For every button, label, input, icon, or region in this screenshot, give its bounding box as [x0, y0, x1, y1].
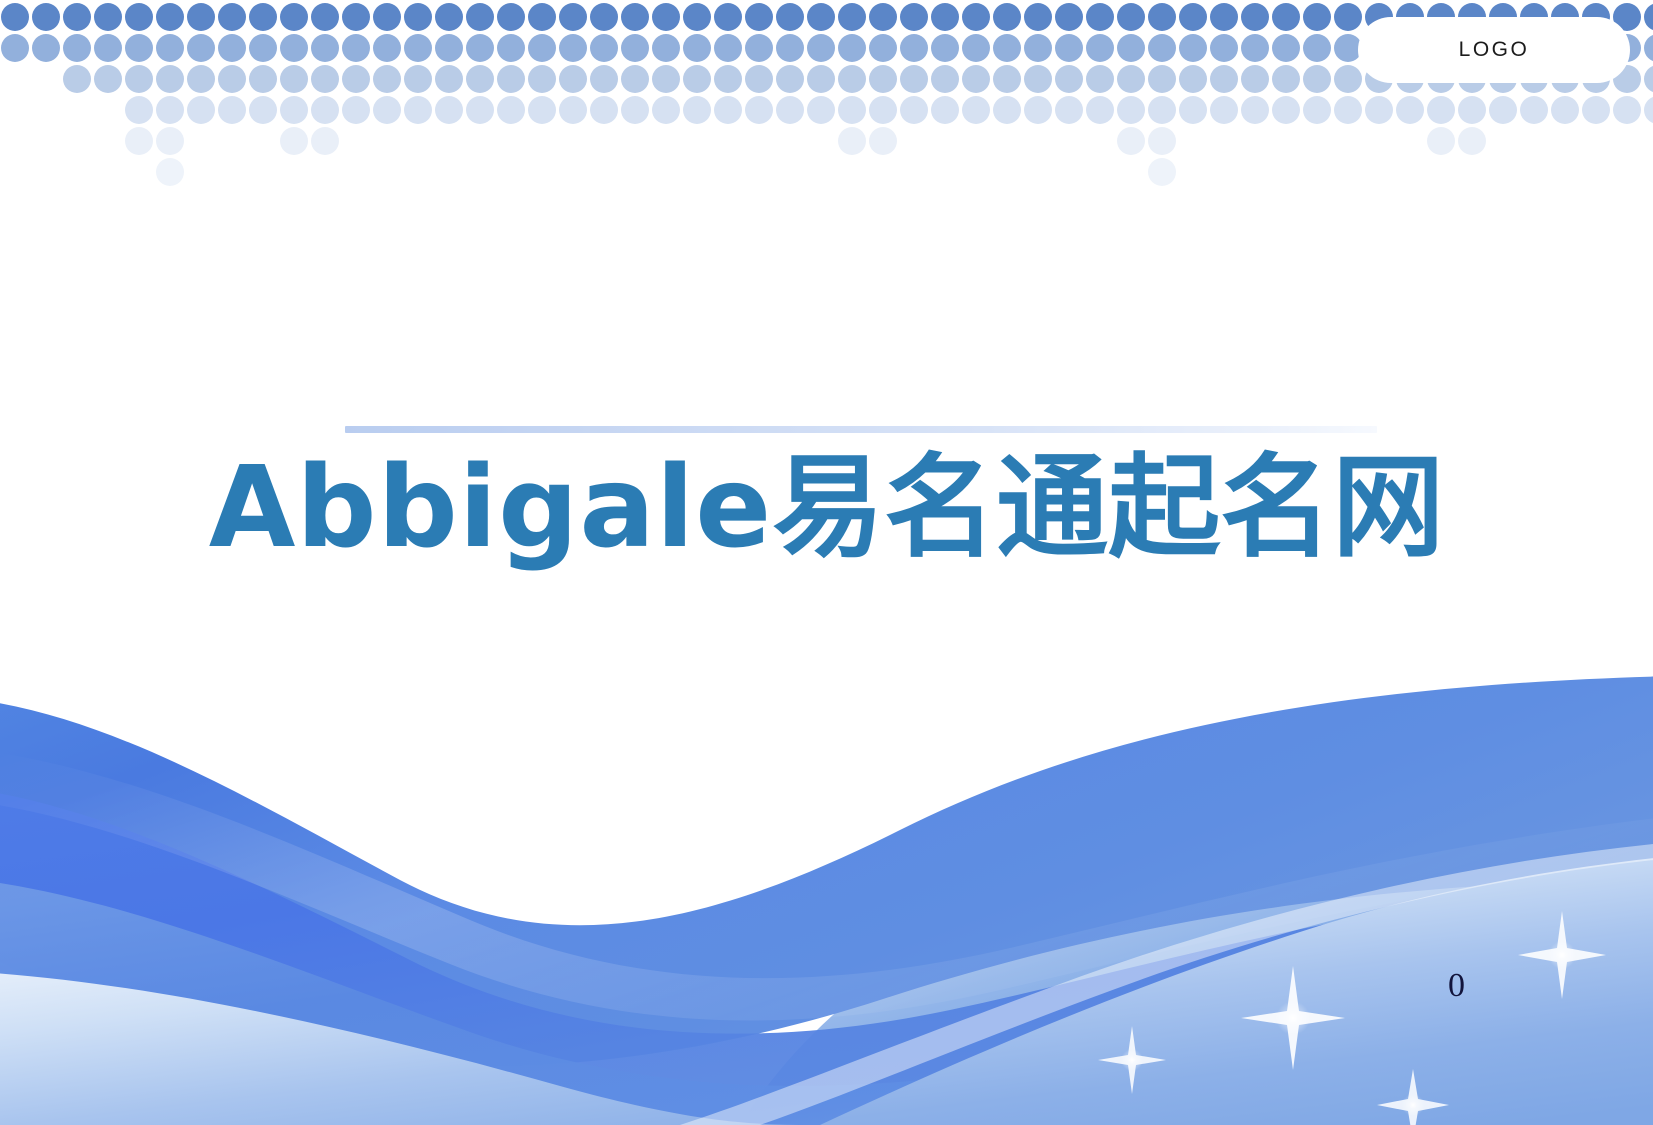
halftone-dot [838, 34, 866, 62]
halftone-dot [931, 65, 959, 93]
halftone-dot [435, 65, 463, 93]
halftone-dot [280, 96, 308, 124]
page-title: Abbigale易名通起名网 [0, 438, 1653, 578]
halftone-dot [528, 65, 556, 93]
halftone-dot [280, 127, 308, 155]
halftone-dot [497, 96, 525, 124]
halftone-dot [1117, 65, 1145, 93]
halftone-dot [404, 96, 432, 124]
halftone-dot [1117, 127, 1145, 155]
halftone-dot [900, 3, 928, 31]
halftone-dot [745, 65, 773, 93]
halftone-dot [280, 65, 308, 93]
halftone-dot [1055, 3, 1083, 31]
page-number: 0 [1448, 967, 1465, 1005]
halftone-dot [1148, 96, 1176, 124]
halftone-dot [1644, 65, 1653, 93]
halftone-dot [869, 127, 897, 155]
halftone-dot [373, 65, 401, 93]
halftone-dot [683, 34, 711, 62]
halftone-dot [404, 3, 432, 31]
halftone-dot [590, 96, 618, 124]
halftone-dot [1334, 65, 1362, 93]
halftone-dot [1179, 34, 1207, 62]
halftone-dot [63, 34, 91, 62]
halftone-dot [435, 96, 463, 124]
halftone-dot [900, 34, 928, 62]
halftone-dot [342, 34, 370, 62]
halftone-dot [1272, 34, 1300, 62]
halftone-dot [807, 96, 835, 124]
halftone-dot [993, 65, 1021, 93]
halftone-dot [962, 96, 990, 124]
halftone-dot [962, 34, 990, 62]
halftone-dot [1117, 3, 1145, 31]
title-latin-part: Abbigale [209, 443, 773, 573]
halftone-dot [187, 3, 215, 31]
halftone-dot [528, 34, 556, 62]
halftone-dot [497, 34, 525, 62]
halftone-dot [776, 3, 804, 31]
halftone-dot [1582, 96, 1610, 124]
halftone-dot [1241, 34, 1269, 62]
halftone-dot [1117, 34, 1145, 62]
halftone-dot [807, 65, 835, 93]
halftone-dot [125, 127, 153, 155]
halftone-dot [404, 65, 432, 93]
halftone-dot [311, 3, 339, 31]
halftone-dot [466, 65, 494, 93]
halftone-dot [1272, 96, 1300, 124]
presentation-slide: LOGO Abbigale易名通起名网 [0, 0, 1653, 1125]
halftone-dot [1644, 34, 1653, 62]
halftone-dot [218, 65, 246, 93]
halftone-dot [1644, 3, 1653, 31]
halftone-dot [32, 34, 60, 62]
halftone-dot [1458, 96, 1486, 124]
halftone-dot [1303, 34, 1331, 62]
halftone-dot [466, 34, 494, 62]
halftone-dot [745, 34, 773, 62]
halftone-dot [807, 3, 835, 31]
halftone-dot [1148, 34, 1176, 62]
halftone-dot [1024, 34, 1052, 62]
halftone-dot [714, 96, 742, 124]
halftone-dot [1086, 65, 1114, 93]
halftone-dot [497, 65, 525, 93]
halftone-dot [683, 96, 711, 124]
halftone-dot [156, 65, 184, 93]
halftone-dot [280, 34, 308, 62]
halftone-dot [1148, 127, 1176, 155]
halftone-dot [435, 34, 463, 62]
halftone-dot [1613, 96, 1641, 124]
halftone-dot [311, 34, 339, 62]
halftone-dot [1396, 96, 1424, 124]
halftone-dot [621, 34, 649, 62]
halftone-dot [1241, 3, 1269, 31]
halftone-dot [1024, 3, 1052, 31]
halftone-dot [993, 34, 1021, 62]
halftone-dot [869, 3, 897, 31]
halftone-dot [838, 127, 866, 155]
halftone-dot [156, 96, 184, 124]
halftone-dot [869, 96, 897, 124]
title-cjk-part: 易名通起名网 [772, 443, 1444, 573]
halftone-dot [652, 65, 680, 93]
halftone-dot [94, 65, 122, 93]
halftone-dot [714, 34, 742, 62]
halftone-dot [280, 3, 308, 31]
halftone-dot [125, 3, 153, 31]
halftone-dot [962, 3, 990, 31]
halftone-dot [1024, 65, 1052, 93]
halftone-dot [218, 3, 246, 31]
title-divider-rule [345, 426, 1377, 433]
halftone-dot [652, 3, 680, 31]
halftone-dot [125, 34, 153, 62]
halftone-dot [1, 3, 29, 31]
halftone-dot [745, 3, 773, 31]
halftone-dot [683, 3, 711, 31]
halftone-dot [590, 65, 618, 93]
halftone-dot [931, 3, 959, 31]
halftone-dot [1551, 96, 1579, 124]
halftone-dot [1303, 96, 1331, 124]
halftone-dot [156, 34, 184, 62]
halftone-dot [559, 34, 587, 62]
halftone-dot [404, 34, 432, 62]
halftone-dot [497, 3, 525, 31]
halftone-dot [1055, 65, 1083, 93]
halftone-dot [559, 3, 587, 31]
halftone-dot [683, 65, 711, 93]
halftone-dot [311, 127, 339, 155]
halftone-dot [1644, 96, 1653, 124]
halftone-dot [993, 3, 1021, 31]
halftone-dot [249, 3, 277, 31]
halftone-dot [1210, 96, 1238, 124]
halftone-dot [962, 65, 990, 93]
halftone-dot [1241, 65, 1269, 93]
halftone-dot [745, 96, 773, 124]
halftone-dot [218, 96, 246, 124]
halftone-dot [63, 65, 91, 93]
halftone-dot [218, 34, 246, 62]
halftone-dot [1179, 3, 1207, 31]
halftone-dot [311, 96, 339, 124]
halftone-dot [590, 34, 618, 62]
halftone-dot [125, 96, 153, 124]
halftone-dot [156, 127, 184, 155]
halftone-dot [249, 34, 277, 62]
halftone-dot [373, 34, 401, 62]
logo-label: LOGO [1459, 38, 1530, 62]
halftone-dot [466, 96, 494, 124]
halftone-dot [838, 65, 866, 93]
halftone-dot [1520, 96, 1548, 124]
halftone-dot [1148, 158, 1176, 186]
halftone-dot [1148, 65, 1176, 93]
halftone-dot [559, 96, 587, 124]
halftone-dot [187, 96, 215, 124]
halftone-dot [528, 96, 556, 124]
halftone-dot [1489, 96, 1517, 124]
halftone-dot [1272, 65, 1300, 93]
halftone-dot [1055, 96, 1083, 124]
halftone-dot [1086, 34, 1114, 62]
halftone-dot [776, 34, 804, 62]
halftone-dot [1303, 3, 1331, 31]
halftone-dot [342, 65, 370, 93]
halftone-dot [94, 3, 122, 31]
halftone-dot [311, 65, 339, 93]
halftone-dot [1272, 3, 1300, 31]
halftone-dot [838, 96, 866, 124]
halftone-dot [776, 65, 804, 93]
halftone-dot [249, 96, 277, 124]
halftone-dot [1117, 96, 1145, 124]
halftone-dot [342, 96, 370, 124]
halftone-dot [1334, 3, 1362, 31]
halftone-dot [1179, 96, 1207, 124]
halftone-dot [373, 3, 401, 31]
halftone-dot [466, 3, 494, 31]
halftone-dot [342, 3, 370, 31]
halftone-dot [1179, 65, 1207, 93]
halftone-dot [900, 96, 928, 124]
halftone-dot [1148, 3, 1176, 31]
halftone-dot [32, 3, 60, 31]
halftone-dot [869, 65, 897, 93]
halftone-dot [1458, 127, 1486, 155]
halftone-dot [838, 3, 866, 31]
halftone-dot [993, 96, 1021, 124]
halftone-dot [590, 3, 618, 31]
halftone-dot [1210, 3, 1238, 31]
halftone-dot [1210, 34, 1238, 62]
halftone-dot [1055, 34, 1083, 62]
halftone-dot [559, 65, 587, 93]
halftone-dot [931, 96, 959, 124]
halftone-dot [621, 65, 649, 93]
halftone-dot [714, 3, 742, 31]
halftone-dot [652, 96, 680, 124]
halftone-dot [1303, 65, 1331, 93]
halftone-dot [1086, 96, 1114, 124]
halftone-dot [528, 3, 556, 31]
halftone-dot [63, 3, 91, 31]
halftone-dot [94, 34, 122, 62]
halftone-dot [156, 3, 184, 31]
halftone-dot [156, 158, 184, 186]
halftone-dot [187, 34, 215, 62]
halftone-dot [1086, 3, 1114, 31]
halftone-dot [931, 34, 959, 62]
halftone-dot [1365, 96, 1393, 124]
logo-placeholder[interactable]: LOGO [1358, 17, 1630, 83]
halftone-dot [652, 34, 680, 62]
halftone-dot [373, 96, 401, 124]
halftone-dot [1241, 96, 1269, 124]
halftone-dot [125, 65, 153, 93]
halftone-dot [714, 65, 742, 93]
halftone-dot [900, 65, 928, 93]
halftone-dot [435, 3, 463, 31]
halftone-dot [1334, 96, 1362, 124]
halftone-dot [187, 65, 215, 93]
halftone-dot [1210, 65, 1238, 93]
halftone-dot [1427, 127, 1455, 155]
halftone-dot [621, 96, 649, 124]
halftone-dot [621, 3, 649, 31]
halftone-dot [1024, 96, 1052, 124]
halftone-dot [807, 34, 835, 62]
halftone-dot [1, 34, 29, 62]
halftone-dot [869, 34, 897, 62]
halftone-dot [776, 96, 804, 124]
halftone-dot [249, 65, 277, 93]
decorative-wave-artwork [0, 580, 1653, 1125]
halftone-dot [1427, 96, 1455, 124]
